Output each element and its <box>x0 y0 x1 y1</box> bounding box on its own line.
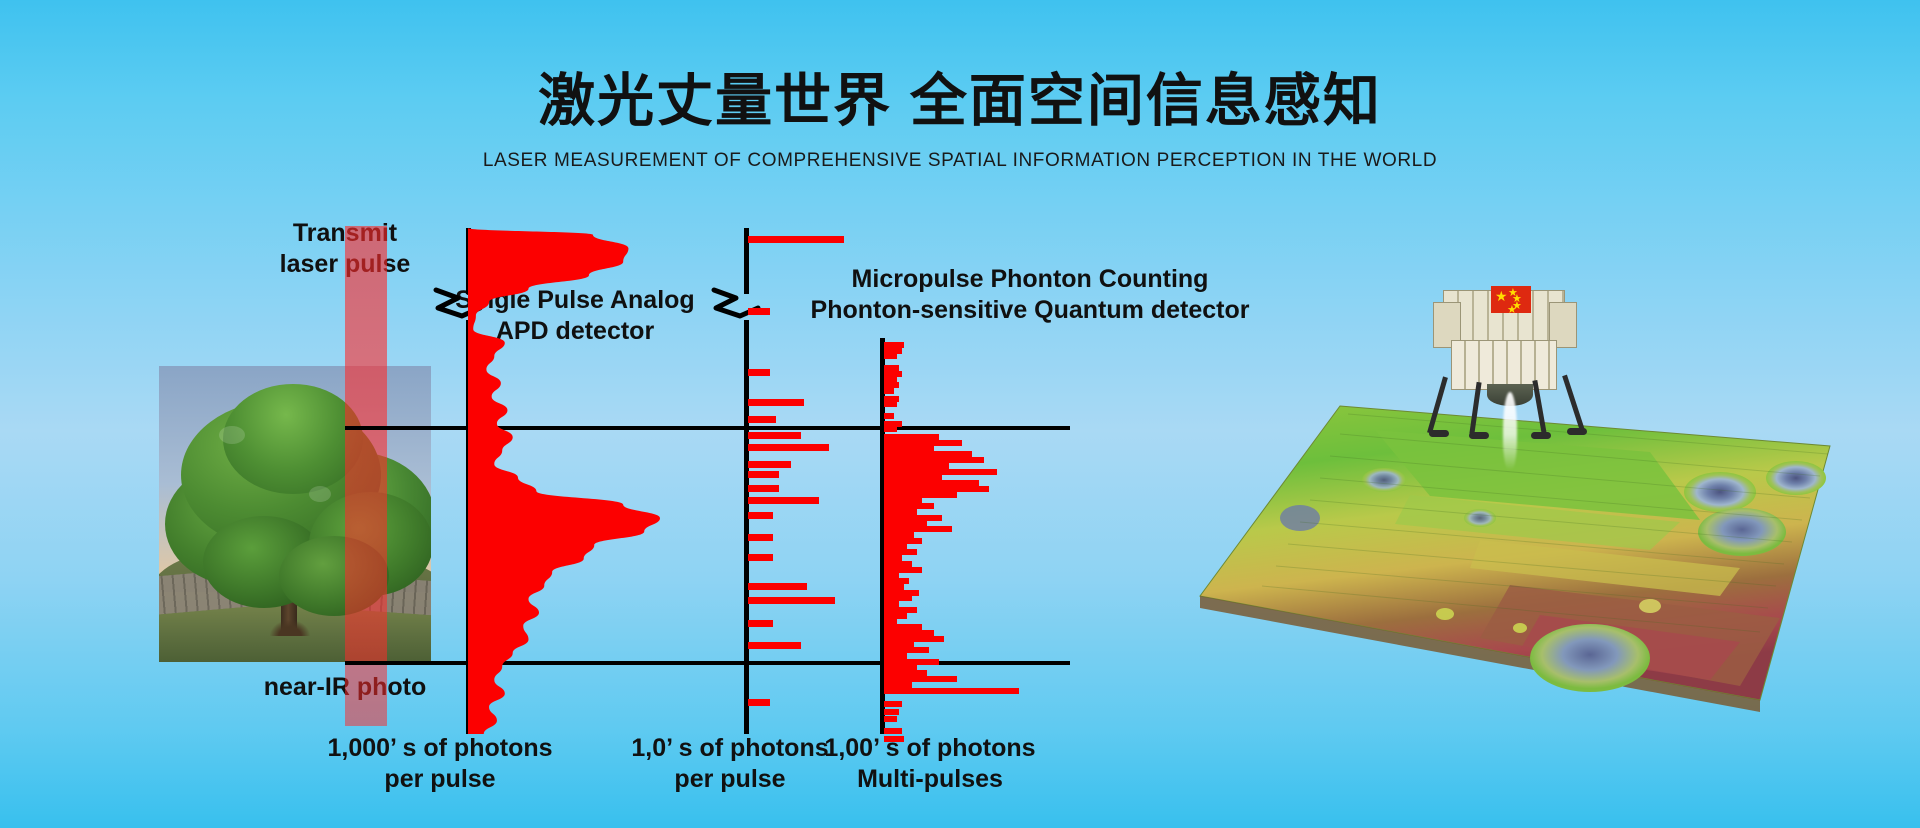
photon-bar <box>748 583 807 590</box>
photon-bar <box>748 471 779 478</box>
analog-waveform-fill <box>468 228 660 734</box>
lander-foot-pad <box>1531 432 1551 439</box>
photon-bar <box>884 728 902 734</box>
photon-bar <box>884 701 902 707</box>
engine-plume <box>1503 392 1517 470</box>
photon-bar <box>884 736 904 742</box>
photon-bar <box>748 399 804 406</box>
lunar-lander-scene: ★ ★ ★ ★ ★ <box>1180 280 1840 740</box>
photon-bar <box>748 620 773 627</box>
photon-bar <box>884 688 1019 694</box>
infographic-stage: 激光丈量世界 全面空间信息感知 LASER MEASUREMENT OF COM… <box>0 0 1920 828</box>
photon-bar <box>884 413 894 419</box>
photon-bar <box>748 432 801 439</box>
lander-foot-pad <box>1567 428 1587 435</box>
photon-bar <box>748 308 770 315</box>
photon-bar <box>748 642 801 649</box>
photon-bar <box>884 388 894 394</box>
page-title: 激光丈量世界 全面空间信息感知 <box>0 55 1920 137</box>
photo-canopy-lobe <box>223 384 363 494</box>
lander-leg <box>1562 375 1585 432</box>
lander-leg <box>1427 376 1448 433</box>
lander-foot-pad <box>1469 432 1489 439</box>
micropulse-photon-histogram <box>884 340 1094 740</box>
photon-caption-analog-line1: 1,000’ s of photons <box>300 733 580 764</box>
flag-star-large: ★ <box>1495 291 1508 302</box>
photon-bar <box>748 512 773 519</box>
photon-caption-micropulse-line2: Multi-pulses <box>790 764 1070 795</box>
photon-bar <box>884 709 899 715</box>
photon-bar <box>748 497 819 504</box>
photon-bar <box>748 369 770 376</box>
photo-highlight <box>219 426 245 444</box>
photon-bar <box>884 401 897 407</box>
single-pulse-analog-waveform <box>468 228 688 734</box>
lander-foot-pad <box>1429 430 1449 437</box>
china-flag-icon: ★ ★ ★ ★ ★ <box>1491 286 1531 313</box>
photon-bar <box>748 461 791 468</box>
flag-star-small: ★ <box>1507 305 1517 316</box>
transmit-laser-beam <box>345 226 387 726</box>
photo-highlight <box>309 486 331 502</box>
photon-bar <box>748 534 773 541</box>
photon-bar <box>748 444 829 451</box>
photon-bar <box>748 416 776 423</box>
photon-bar <box>748 699 770 706</box>
photon-bar <box>748 485 779 492</box>
photon-bar <box>884 426 897 432</box>
lander-lower-body <box>1451 340 1557 390</box>
lunar-lander: ★ ★ ★ ★ ★ <box>1425 280 1595 440</box>
photon-bar <box>748 236 844 243</box>
photon-bar <box>884 716 897 722</box>
near-ir-tree-photo <box>159 366 431 662</box>
photon-bar <box>748 554 773 561</box>
photon-bar <box>748 597 835 604</box>
photon-caption-micropulse: 1,00’ s of photons Multi-pulses <box>790 733 1070 794</box>
page-subtitle: LASER MEASUREMENT OF COMPREHENSIVE SPATI… <box>0 150 1920 172</box>
photon-caption-analog: 1,000’ s of photons per pulse <box>300 733 580 794</box>
photon-caption-analog-line2: per pulse <box>300 764 580 795</box>
photon-bar <box>884 353 897 359</box>
